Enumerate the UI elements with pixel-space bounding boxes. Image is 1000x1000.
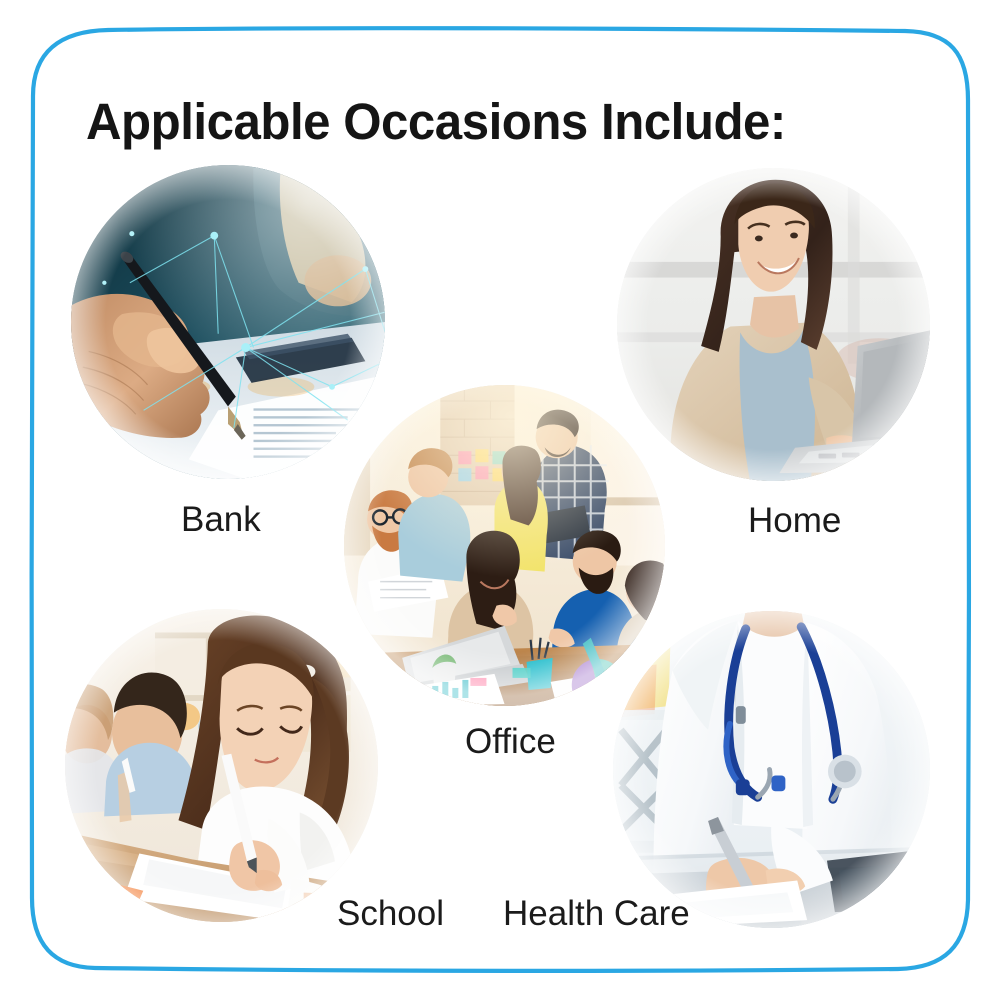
page-title: Applicable Occasions Include:: [86, 92, 786, 151]
occasion-school: [65, 609, 378, 922]
health-care-photo-icon: [613, 611, 930, 928]
occasion-label-office: Office: [465, 722, 556, 762]
occasion-label-bank: Bank: [181, 500, 261, 540]
school-photo-icon: [65, 609, 378, 922]
occasion-label-health-care: Health Care: [503, 894, 690, 934]
infographic-canvas: Applicable Occasions Include:: [0, 0, 1000, 1000]
occasion-bank: [71, 165, 385, 479]
occasion-label-home: Home: [748, 501, 841, 541]
occasion-label-school: School: [337, 894, 444, 934]
occasion-health-care: [613, 611, 930, 928]
bank-photo-icon: [71, 165, 385, 479]
